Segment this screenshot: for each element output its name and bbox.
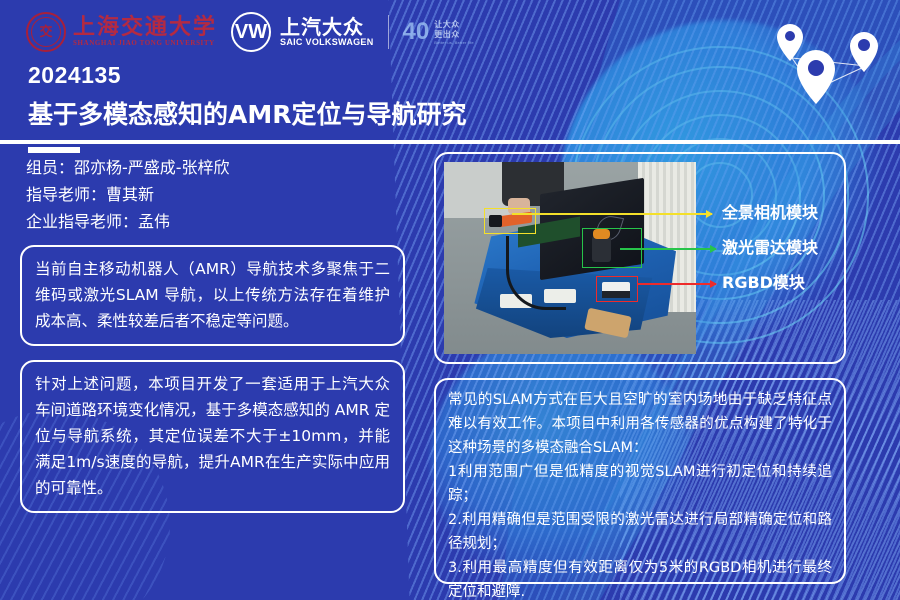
poster-root: 交 上海交通大学 SHANGHAI JIAO TONG UNIVERSITY V… [0,0,900,600]
method-card: 常见的SLAM方式在巨大且空旷的室内场地由于缺乏特征点难以有效工作。本项目中利用… [434,378,846,584]
volkswagen-mark-icon: VW [231,12,271,52]
map-pin-icon [850,32,878,72]
annotation-label-panoramic-camera: 全景相机模块 [722,205,818,221]
anniversary-slogan-line1: 让大众 [434,20,474,30]
volkswagen-wordmark: 上汽大众 SAIC VOLKSWAGEN [280,17,374,47]
background-card: 当前自主移动机器人（AMR）导航技术多聚焦于二维码或激光SLAM 导航，以上传统… [20,245,405,346]
team-enterprise-advisor: 企业指导老师：孟伟 [26,208,426,235]
sjtu-seal-glyph: 交 [39,26,52,39]
annotation-label-rgbd: RGBD模块 [722,275,805,291]
annotation-box-rgbd [596,276,638,302]
team-accent-bar [28,147,80,153]
map-pin-icon [777,24,803,61]
map-pin-icon [797,50,835,104]
team-members: 组员：邵亦杨-严盛成-张梓欣 [26,154,426,181]
team-info: 组员：邵亦杨-严盛成-张梓欣 指导老师：曹其新 企业指导老师：孟伟 [26,154,426,235]
volkswagen-logo: VW 上汽大众 SAIC VOLKSWAGEN [231,12,374,52]
annotation-box-panoramic-camera [484,208,536,234]
team-advisor: 指导老师：曹其新 [26,181,426,208]
header-divider [0,140,900,144]
annotation-leader-rgbd [638,283,716,285]
anniversary-slogan-line2: 更出众 [434,30,474,40]
sjtu-seal-icon: 交 [26,12,66,52]
logo-row: 交 上海交通大学 SHANGHAI JIAO TONG UNIVERSITY V… [26,12,474,52]
anniversary-slogan-en: Better us, Better life [434,40,474,45]
sjtu-logo: 交 上海交通大学 SHANGHAI JIAO TONG UNIVERSITY [26,12,217,52]
volkswagen-name-en: SAIC VOLKSWAGEN [280,38,374,47]
sjtu-name-cn: 上海交通大学 [73,17,217,39]
method-text: 常见的SLAM方式在巨大且空旷的室内场地由于缺乏特征点难以有效工作。本项目中利用… [448,388,832,600]
objective-card: 针对上述问题，本项目开发了一套适用于上汽大众车间道路环境变化情况，基于多模态感知… [20,360,405,513]
sjtu-name-en: SHANGHAI JIAO TONG UNIVERSITY [73,40,217,47]
annotation-leader-lidar [620,248,716,250]
page-title: 基于多模态感知的AMR定位与导航研究 [28,95,466,131]
objective-text: 针对上述问题，本项目开发了一套适用于上汽大众车间道路环境变化情况，基于多模态感知… [35,371,390,501]
robot-photo [444,162,696,354]
background-text: 当前自主移动机器人（AMR）导航技术多聚焦于二维码或激光SLAM 导航，以上传统… [35,256,390,334]
logo-divider [388,15,389,49]
sjtu-wordmark: 上海交通大学 SHANGHAI JIAO TONG UNIVERSITY [73,17,217,47]
anniversary-slogan: 让大众 更出众 Better us, Better life [434,20,474,45]
anniversary-number: 40 [403,20,430,44]
map-pins-group [752,14,900,118]
volkswagen-name-cn: 上汽大众 [280,17,374,37]
anniversary-logo: 40 让大众 更出众 Better us, Better life [403,20,474,45]
annotation-label-lidar: 激光雷达模块 [722,240,818,256]
project-number: 2024135 [28,62,121,89]
annotation-leader-panoramic-camera [512,213,712,215]
